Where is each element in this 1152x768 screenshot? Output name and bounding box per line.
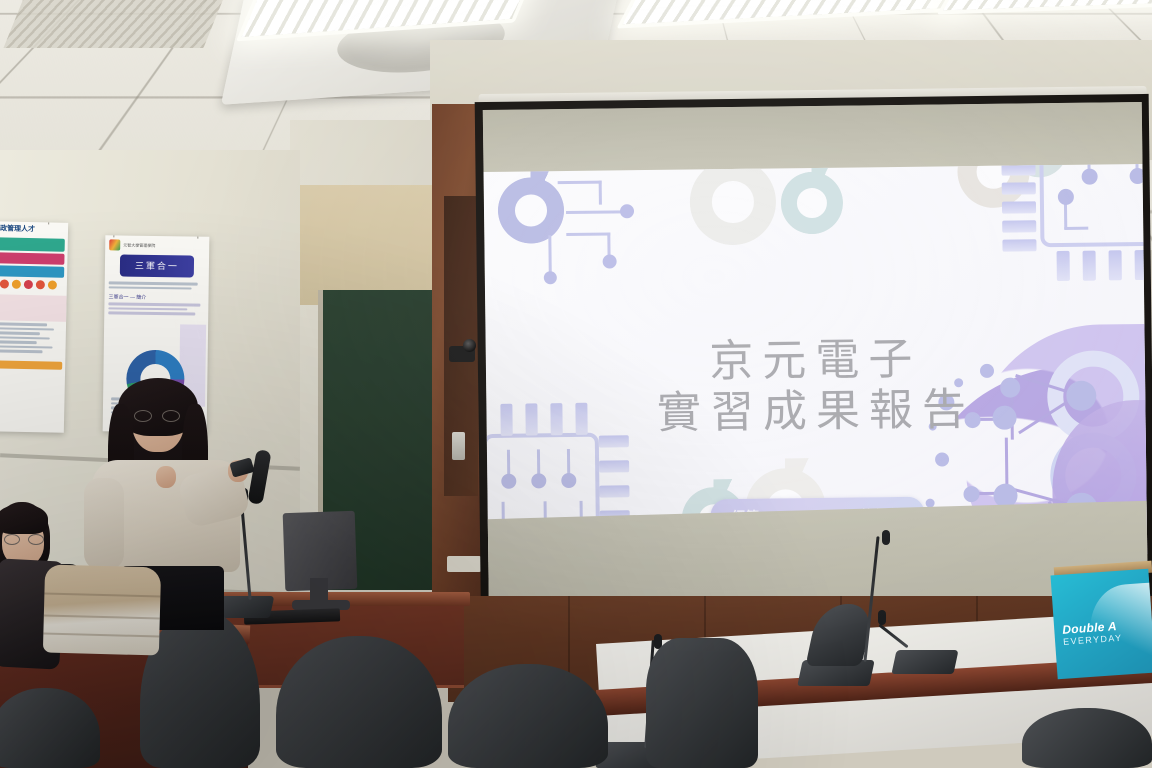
gear-icon bbox=[689, 164, 776, 246]
webcam-icon bbox=[449, 346, 475, 362]
network-node bbox=[935, 452, 949, 466]
glasses-icon bbox=[4, 534, 44, 545]
chip-pin bbox=[1002, 182, 1036, 194]
poster-dot-row bbox=[0, 279, 67, 290]
microphone-capsule-icon bbox=[878, 610, 886, 625]
circuit-node bbox=[603, 254, 617, 268]
power-socket-icon bbox=[447, 556, 481, 572]
office-chair bbox=[1022, 708, 1152, 768]
folded-jacket bbox=[43, 564, 161, 655]
poster-section: 三軍合一 — 簡介 bbox=[104, 290, 208, 301]
pull-down-projector-screen: 京元電子 實習成果報告 經管4B 111031014 徐儷慈 bbox=[475, 94, 1152, 650]
poster-heading: 行政管理人才 bbox=[0, 221, 68, 237]
office-chair bbox=[646, 638, 758, 768]
circuit-node bbox=[1082, 169, 1098, 185]
circuit-trace bbox=[566, 232, 610, 236]
gear-icon bbox=[781, 172, 844, 235]
gear-icon bbox=[498, 177, 565, 244]
chip-pin bbox=[1001, 164, 1035, 176]
presentation-room-scene: 行政管理人才 元智大學管理學院 三軍合一 三軍合一 — 簡介 bbox=[0, 0, 1152, 768]
slide-title: 京元電子 實習成果報告 bbox=[486, 332, 1146, 442]
chip-pin bbox=[599, 460, 629, 472]
glasses-icon bbox=[134, 410, 180, 422]
poster-title-badge: 三軍合一 bbox=[119, 254, 194, 277]
wall-plate bbox=[452, 432, 465, 460]
chip-pin bbox=[1057, 251, 1070, 281]
circuit-trace bbox=[566, 210, 624, 214]
circuit-node bbox=[620, 204, 634, 218]
chip-pin bbox=[1002, 201, 1036, 213]
chip-pin bbox=[1109, 250, 1122, 280]
circuit-trace bbox=[1064, 227, 1088, 230]
network-node bbox=[963, 486, 979, 502]
chip-pin bbox=[599, 485, 629, 497]
conference-microphone-base bbox=[891, 650, 958, 674]
door-header-panel bbox=[300, 185, 450, 305]
audience-hair-fringe bbox=[0, 504, 48, 534]
microphone-capsule-icon bbox=[882, 530, 890, 545]
projected-slide: 京元電子 實習成果報告 經管4B 111031014 徐儷慈 bbox=[484, 164, 1148, 562]
circuit-trace bbox=[548, 235, 551, 273]
slide-title-line1: 京元電子 bbox=[486, 332, 1146, 390]
presenter-hand bbox=[156, 466, 176, 488]
circuit-trace bbox=[607, 232, 610, 256]
screen-surface: 京元電子 實習成果報告 經管4B 111031014 徐儷慈 bbox=[483, 102, 1148, 616]
circuit-node bbox=[561, 473, 576, 488]
chip-pin bbox=[1083, 251, 1096, 281]
ceiling-air-vent bbox=[3, 0, 232, 48]
circuit-node bbox=[1058, 189, 1074, 205]
chip-pin bbox=[1002, 220, 1036, 232]
circuit-node bbox=[531, 473, 546, 488]
paper-box: Double A EVERYDAY bbox=[1050, 569, 1152, 680]
slide-title-line2: 實習成果報告 bbox=[486, 382, 1146, 442]
wall-poster-left: 行政管理人才 bbox=[0, 221, 68, 433]
chip-pin bbox=[1002, 239, 1036, 251]
poster-logo-icon bbox=[109, 239, 120, 250]
circuit-trace bbox=[599, 181, 602, 205]
circuit-trace bbox=[558, 181, 602, 185]
circuit-node bbox=[544, 271, 557, 284]
poster-org: 元智大學管理學院 bbox=[123, 242, 155, 248]
